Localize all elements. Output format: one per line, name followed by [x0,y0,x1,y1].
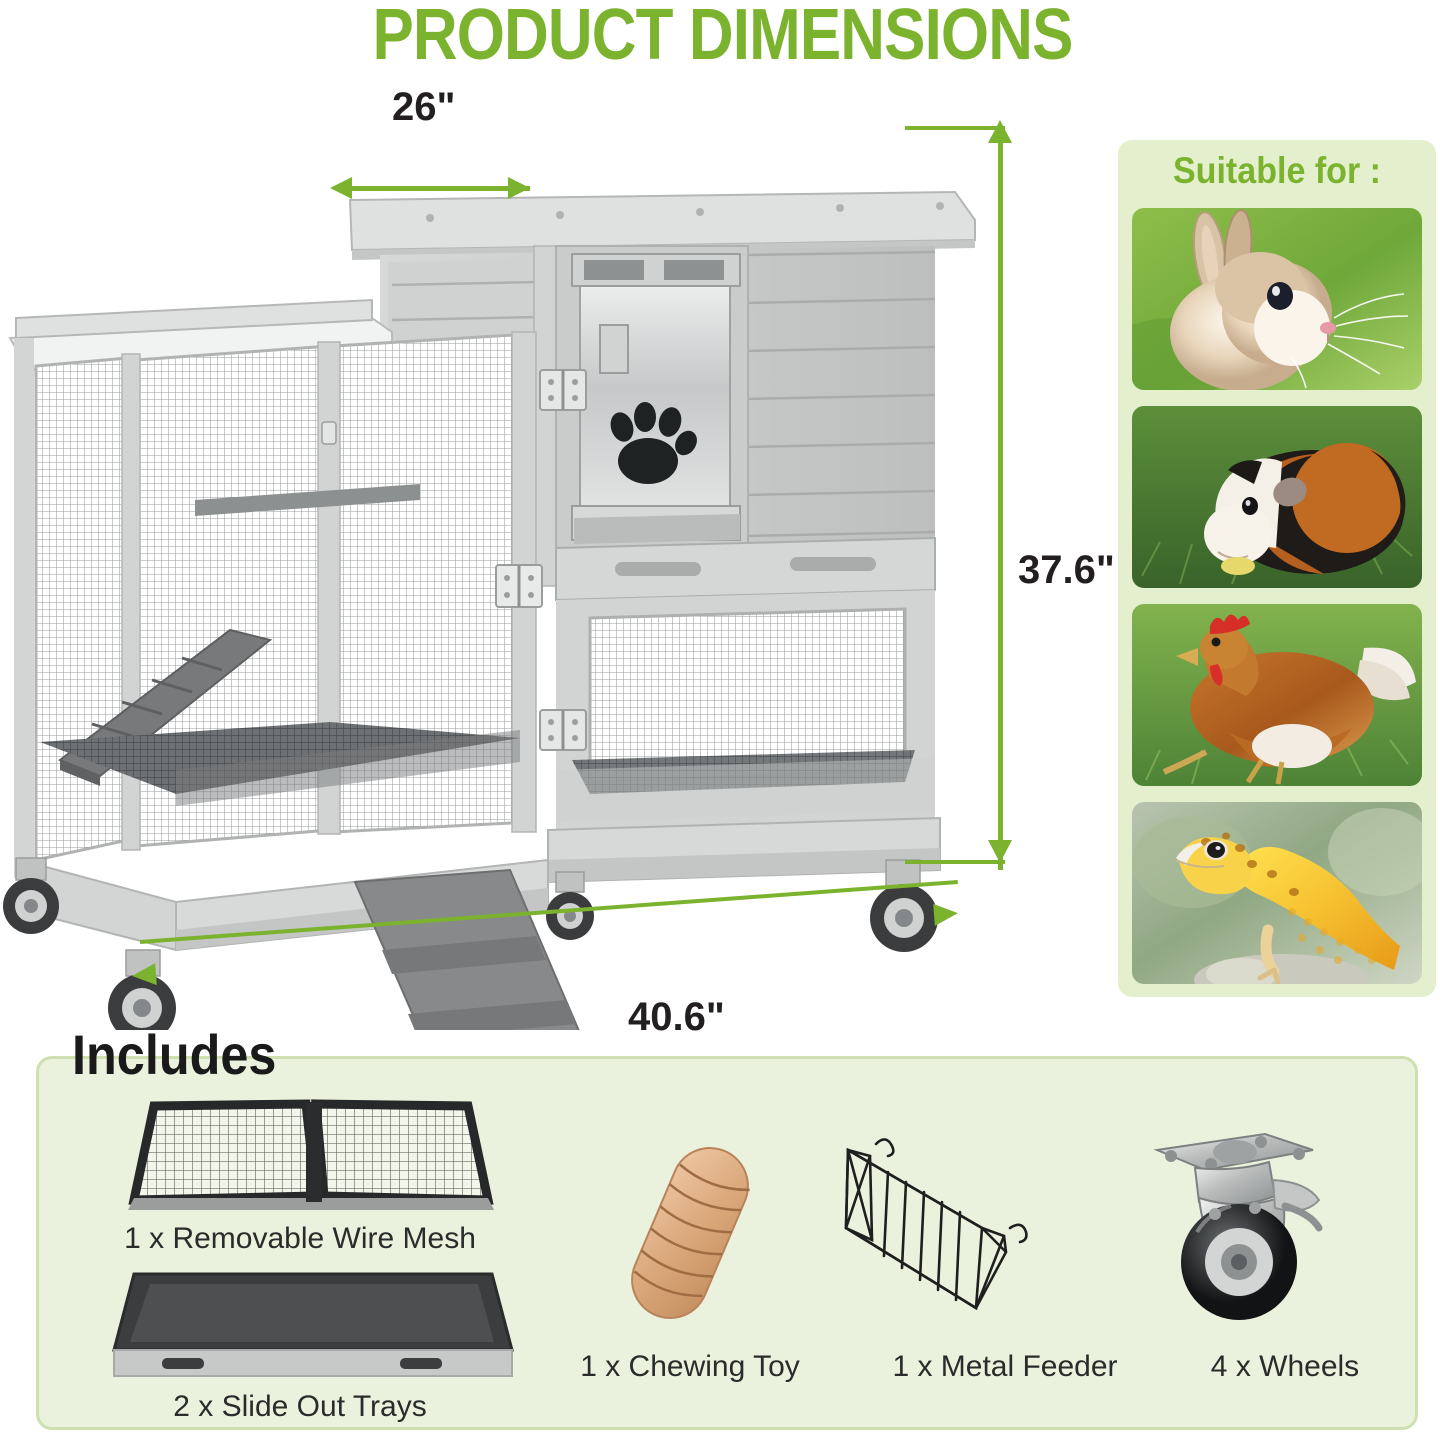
height-arrow-top-head [988,120,1012,143]
pet-photo-guinea-pig [1132,406,1422,588]
caster-wheel-icon [1135,1128,1335,1333]
height-dimension-line [998,140,1003,870]
caster-wheel-front-right [870,860,938,952]
depth-arrow-right-head [933,902,959,926]
chewing-toy-icon [600,1128,780,1338]
include-caption-trays: 2 x Slide Out Trays [100,1390,500,1424]
pet-photo-gecko [1132,802,1422,984]
height-dimension-label: 37.6" [1018,548,1115,593]
wire-mesh-icon [120,1098,500,1218]
width-dimension-label: 26" [392,85,455,130]
hinge-lower-icon [540,710,586,750]
pet-photo-rabbit [1132,208,1422,390]
hinge-upper-icon [540,370,586,410]
suitable-for-title: Suitable for : [1131,150,1424,192]
rabbit-hutch-illustration [0,70,1000,1030]
width-arrow-right-head [508,177,530,199]
hinge-run-icon [496,565,542,607]
include-caption-metal-feeder: 1 x Metal Feeder [845,1350,1165,1384]
product-illustration: 26" 37.6" 40.6" [0,70,1100,1030]
page-title: PRODUCT DIMENSIONS [101,0,1344,76]
slide-out-tray-icon [100,1268,520,1386]
depth-dimension-label: 40.6" [628,995,725,1040]
include-caption-wheels: 4 x Wheels [1155,1350,1415,1384]
caster-wheel-front-left [108,950,176,1030]
include-caption-chewing-toy: 1 x Chewing Toy [530,1350,850,1384]
depth-arrow-left-head [131,963,157,987]
include-caption-wire-mesh: 1 x Removable Wire Mesh [100,1222,500,1256]
height-arrow-bottom-head [988,840,1012,863]
metal-feeder-icon [830,1132,1100,1332]
includes-title: Includes [72,1022,276,1087]
suitable-for-panel: Suitable for : [1118,140,1436,997]
width-arrow-left-head [330,177,352,199]
pet-photo-chicken [1132,604,1422,786]
width-dimension-line [338,186,530,191]
